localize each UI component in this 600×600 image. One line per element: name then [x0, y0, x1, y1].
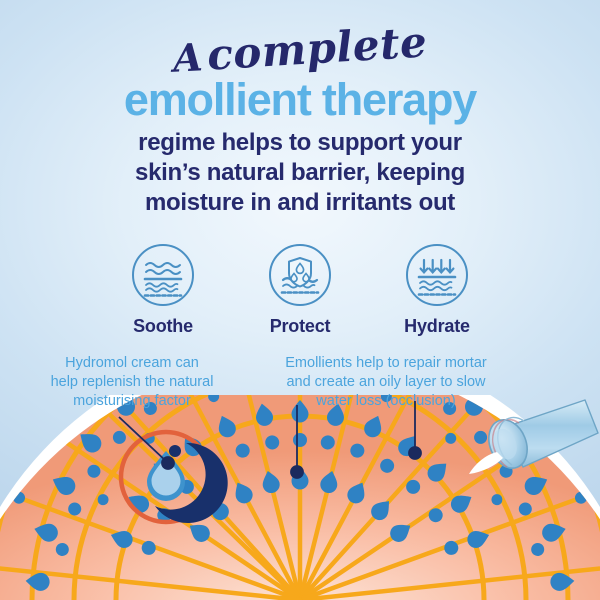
skin-waves-icon [131, 243, 195, 307]
benefit-item-protect: Protect [247, 243, 353, 337]
callout-right-line-2: and create an oily layer to slow [250, 373, 522, 392]
subheading: regime helps to support your skin’s natu… [50, 128, 550, 218]
down-arrows-skin-icon [405, 243, 469, 307]
callout-left-line-1: Hydromol cream can [18, 354, 246, 373]
callout-right-line-3: water loss (occlusion) [250, 392, 522, 411]
callout-left-line-3: moisturising factor [18, 392, 246, 411]
shield-droplets-icon [268, 243, 332, 307]
subheading-line-1: regime helps to support your [50, 128, 550, 158]
subheading-line-3: moisture in and irritants out [50, 188, 550, 218]
skin-barrier-diagram [0, 395, 600, 600]
benefit-label-soothe: Soothe [110, 316, 216, 337]
callout-right: Emollients help to repair mortar and cre… [250, 354, 522, 411]
callout-right-line-1: Emollients help to repair mortar [250, 354, 522, 373]
benefit-item-soothe: Soothe [110, 243, 216, 337]
benefit-label-protect: Protect [247, 316, 353, 337]
callout-left: Hydromol cream can help replenish the na… [18, 354, 246, 411]
benefit-item-hydrate: Hydrate [384, 243, 490, 337]
subheading-line-2: skin’s natural barrier, keeping [50, 158, 550, 188]
callout-left-line-2: help replenish the natural [18, 373, 246, 392]
benefits-row: Soothe Protect [110, 243, 490, 337]
script-headline: Acomplete [0, 24, 600, 73]
benefit-label-hydrate: Hydrate [384, 316, 490, 337]
script-word: complete [206, 17, 429, 79]
infographic-poster: Acomplete emollient therapy regime helps… [0, 0, 600, 600]
main-headline: emollient therapy [0, 74, 600, 126]
